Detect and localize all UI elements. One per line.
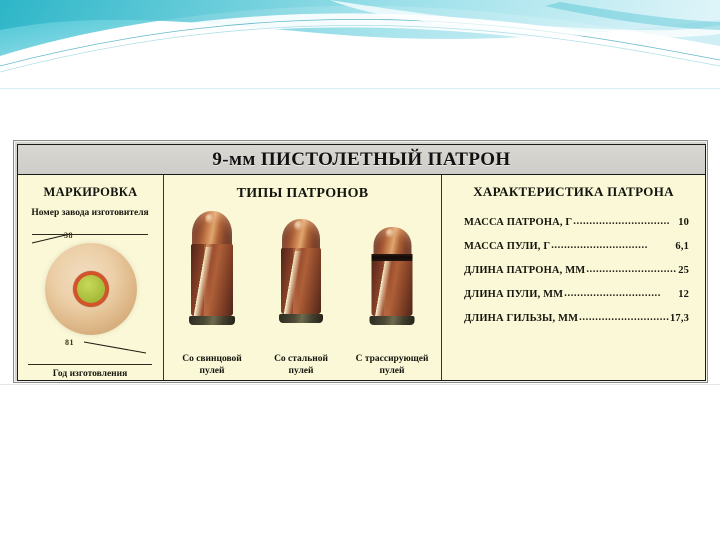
spec-row: МАССА ПУЛИ, Г ..........................…	[464, 241, 689, 252]
spec-leader-dots: ..............................	[579, 312, 669, 323]
panel-cartridge-types: ТИПЫ ПАТРОНОВ Со свинцовой пулей	[163, 175, 441, 380]
bullet-ogive	[192, 211, 232, 247]
cartridge-tracer: С трассирующей пулей	[348, 205, 436, 383]
spec-row: ДЛИНА ГИЛЬЗЫ, ММ .......................…	[464, 313, 689, 324]
bullet-ogive	[373, 227, 411, 257]
spec-value: 17,3	[670, 313, 689, 324]
case-rim	[370, 316, 415, 325]
spec-row: ДЛИНА ПУЛИ, ММ .........................…	[464, 289, 689, 300]
cartridge-poster-image: 9-мм ПИСТОЛЕТНЫЙ ПАТРОН МАРКИРОВКА Номер…	[13, 140, 708, 383]
label-manufacture-year: Год изготовления	[26, 369, 154, 379]
poster-title: 9-мм ПИСТОЛЕТНЫЙ ПАТРОН	[212, 149, 510, 171]
cartridge-steel: Со стальной пулей	[257, 205, 345, 383]
spec-label: МАССА ПУЛИ, Г	[464, 241, 550, 252]
cartridge-label-lead: Со свинцовой пулей	[164, 354, 260, 377]
panel-specifications: ХАРАКТЕРИСТИКА ПАТРОНА МАССА ПАТРОНА, Г …	[441, 175, 705, 380]
leader-lines	[18, 203, 163, 383]
cartridge-case	[191, 244, 233, 316]
case-rim	[279, 314, 323, 323]
spec-row: ДЛИНА ПАТРОНА, ММ ......................…	[464, 265, 689, 276]
cartridge-type-row: Со свинцовой пулей Со стальной пулей	[164, 205, 442, 383]
tracer-identification-band	[372, 254, 413, 261]
panel-marking: МАРКИРОВКА Номер завода изготовителя 38 …	[18, 175, 163, 380]
spec-leader-dots: ..............................	[573, 216, 677, 227]
slide-body-area	[0, 384, 720, 540]
cartridge-illustration-tracer	[370, 227, 415, 325]
spec-value: 12	[678, 289, 689, 300]
decorative-wave-banner	[0, 0, 720, 92]
spec-value: 25	[678, 265, 689, 276]
poster-title-bar: 9-мм ПИСТОЛЕТНЫЙ ПАТРОН	[18, 145, 705, 175]
cartridge-lead: Со свинцовой пулей	[168, 205, 256, 383]
wave-graphic	[0, 0, 720, 92]
cartridge-case	[281, 248, 321, 314]
marking-diagram: Номер завода изготовителя 38 81	[18, 203, 163, 383]
case-rim	[189, 316, 235, 325]
spec-leader-dots: ..............................	[564, 288, 677, 299]
bullet-ogive	[282, 219, 320, 251]
cartridge-illustration-lead	[189, 211, 235, 325]
cartridge-label-tracer: С трассирующей пулей	[344, 354, 440, 377]
spec-label: ДЛИНА ПАТРОНА, ММ	[464, 265, 585, 276]
spec-label: МАССА ПАТРОНА, Г	[464, 217, 572, 228]
spec-leader-dots: ..............................	[551, 240, 674, 251]
year-label-rule	[28, 364, 152, 365]
cartridge-case	[372, 254, 413, 316]
slide-canvas: 9-мм ПИСТОЛЕТНЫЙ ПАТРОН МАРКИРОВКА Номер…	[0, 0, 720, 540]
spec-label: ДЛИНА ПУЛИ, ММ	[464, 289, 563, 300]
cartridge-illustration-steel	[279, 219, 323, 323]
spec-value: 6,1	[675, 241, 689, 252]
spec-row: МАССА ПАТРОНА, Г .......................…	[464, 217, 689, 228]
panel-specs-heading: ХАРАКТЕРИСТИКА ПАТРОНА	[442, 175, 705, 200]
cartridge-label-steel: Со стальной пулей	[253, 354, 349, 377]
poster-frame: 9-мм ПИСТОЛЕТНЫЙ ПАТРОН МАРКИРОВКА Номер…	[17, 144, 706, 381]
panel-types-heading: ТИПЫ ПАТРОНОВ	[164, 175, 441, 202]
specs-list: МАССА ПАТРОНА, Г .......................…	[442, 205, 705, 383]
poster-panels: МАРКИРОВКА Номер завода изготовителя 38 …	[18, 175, 705, 380]
spec-leader-dots: ..............................	[586, 264, 677, 275]
spec-value: 10	[678, 217, 689, 228]
panel-marking-heading: МАРКИРОВКА	[18, 175, 163, 200]
spec-label: ДЛИНА ГИЛЬЗЫ, ММ	[464, 313, 578, 324]
